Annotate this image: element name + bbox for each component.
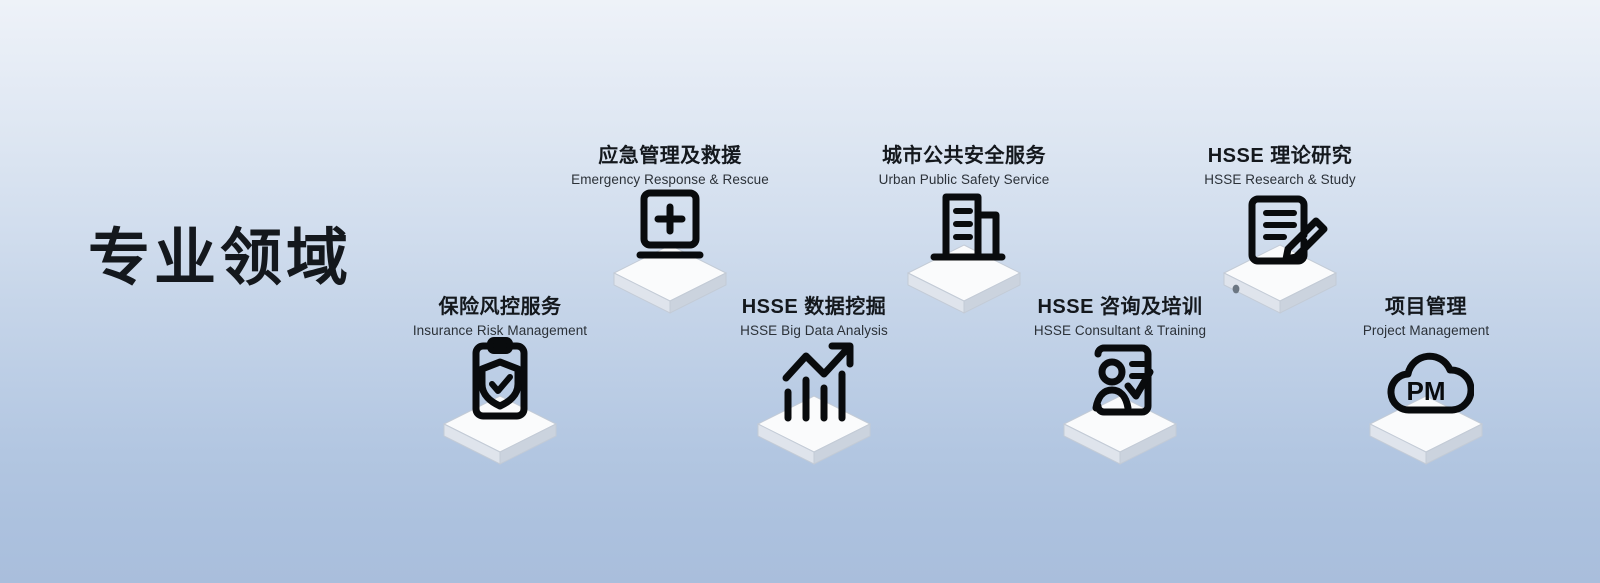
page-title: 专业领域 [88,228,352,290]
field-title: 项目管理 [1276,295,1576,320]
field-title: 保险风控服务 [350,295,650,320]
person-id-card-check-icon [1072,334,1168,430]
field-card-hsse-consultant-training[interactable]: HSSE 咨询及培训 HSSE Consultant & Training [970,295,1270,468]
professional-fields-banner: 专业领域 应急管理及救援 Emergency Response & Rescue [0,0,1600,583]
cloud-pm-icon: PM [1378,334,1474,430]
bar-chart-trend-up-icon [766,334,862,430]
field-card-hsse-big-data-analysis[interactable]: HSSE 数据挖掘 HSSE Big Data Analysis [664,295,964,468]
clipboard-shield-check-icon [452,334,548,430]
field-card-insurance-risk-management[interactable]: 保险风控服务 Insurance Risk Management [350,295,650,468]
field-title: HSSE 数据挖掘 [664,295,964,320]
medical-plus-monitor-icon [622,183,718,279]
cloud-pm-label: PM [1407,376,1446,406]
document-pencil-icon [1232,183,1328,279]
field-card-urban-public-safety-service[interactable]: 城市公共安全服务 Urban Public Safety Service [814,144,1114,317]
field-title: HSSE 理论研究 [1130,144,1430,169]
field-figure [970,348,1270,468]
field-figure [664,348,964,468]
city-buildings-icon [916,183,1012,279]
field-card-emergency-response-rescue[interactable]: 应急管理及救援 Emergency Response & Rescue [520,144,820,317]
field-figure [350,348,650,468]
field-title: 城市公共安全服务 [814,144,1114,169]
field-card-hsse-research-study[interactable]: HSSE 理论研究 HSSE Research & Study [1130,144,1430,317]
field-title: HSSE 咨询及培训 [970,295,1270,320]
field-card-project-management[interactable]: 项目管理 Project Management PM [1276,295,1576,468]
field-figure: PM [1276,348,1576,468]
field-title: 应急管理及救援 [520,144,820,169]
